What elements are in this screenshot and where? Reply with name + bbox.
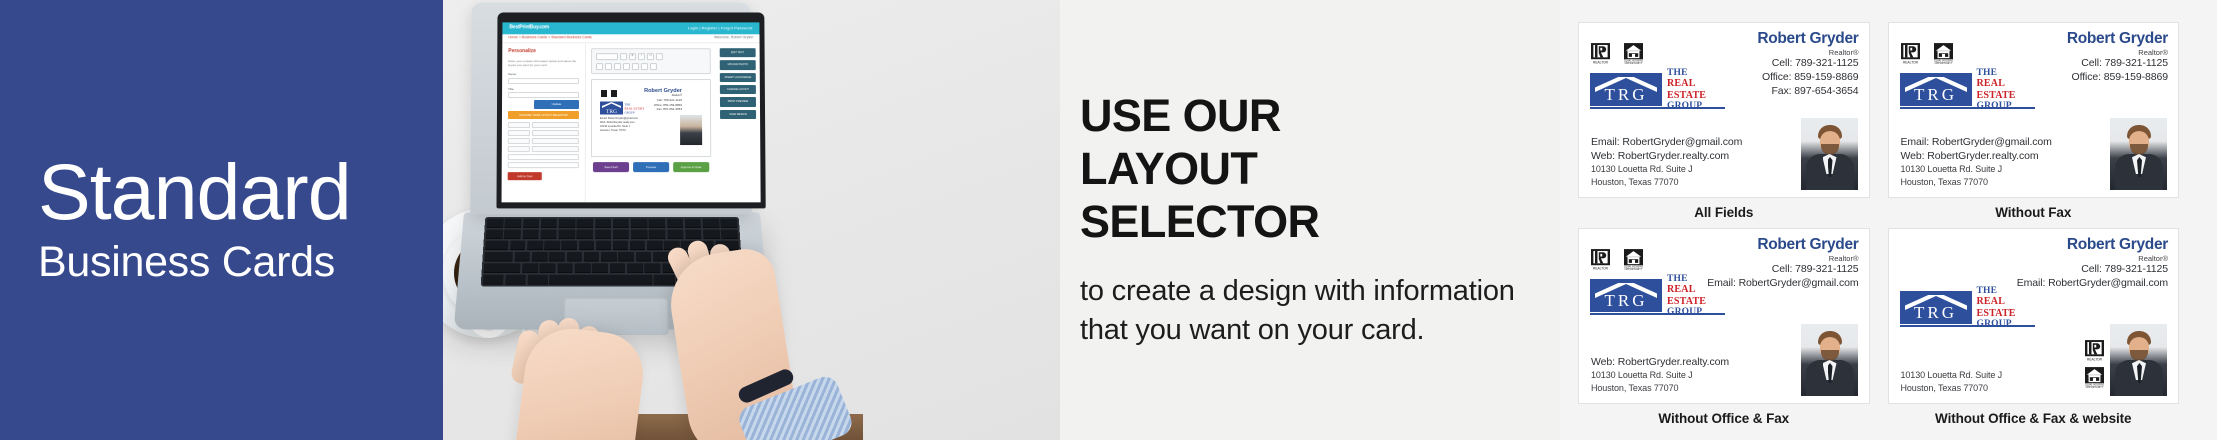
screen-approve-button[interactable]: Approve & Order [673,162,709,172]
screen-select-4[interactable] [508,146,530,152]
card3-trg-box: TRG [1590,279,1662,312]
screen-select-1[interactable] [508,122,530,128]
card2-contact: Email: RobertGryder@gmail.com Web: Rober… [1901,135,2052,189]
card2-trg-words: THE REAL ESTATE GROUP [1972,73,2035,106]
italic-icon[interactable]: I [638,53,645,60]
mini-badges [601,90,617,97]
mini-trg-logo: TRG THE REAL ESTATE GROUP [600,101,644,115]
svg-text:REALTOR: REALTOR [1593,61,1609,65]
svg-text:OPPORTUNITY: OPPORTUNITY [1625,268,1643,271]
card1-trg-rule [1590,107,1725,109]
business-card-without-fax[interactable]: REALTOR EQUAL HOUSING OPPORTUNITY Robert… [1888,22,2180,198]
card4-trg-group: GROUP [1977,319,2035,330]
screen-nav-links[interactable]: Login | Register | Forgot Password [688,25,753,31]
screen-input-1[interactable] [532,122,579,128]
align-right-icon[interactable] [614,63,621,70]
svg-text:OPPORTUNITY: OPPORTUNITY [1934,62,1952,65]
card2-trg-letters: TRG [1914,86,1957,106]
card2-trg-the: THE [1977,68,2035,79]
card1-agent-photo [1801,118,1858,190]
screen-field-row-1 [508,122,579,128]
realtor-r-icon: REALTOR [1591,249,1610,271]
redo-icon[interactable] [650,63,657,70]
card2-office: Office: 859-159-8869 [2067,71,2168,85]
card1-address1: 10130 Louetta Rd. Suite J [1591,163,1742,176]
card3-contact: Web: RobertGryder.realty.com 10130 Louet… [1591,355,1729,395]
card2-address1: 10130 Louetta Rd. Suite J [1901,163,2052,176]
screen-input-title[interactable] [508,92,579,98]
screen-site-logo: BestPrintBuy.com [509,25,549,32]
card4-trg-box: TRG [1900,291,1972,324]
equal-housing-opportunity-icon: EQUAL HOUSING OPPORTUNITY [1934,43,1953,65]
card3-trg-the: THE [1667,274,1725,285]
card4-email: Email: RobertGryder@gmail.com [2017,277,2168,291]
card2-address2: Houston, Texas 77070 [1901,176,2052,189]
svg-text:REALTOR: REALTOR [1593,267,1609,271]
toolbar-row-1: B I U [596,53,706,60]
card3-agent-photo [1801,324,1858,396]
screen-layout-selector-button[interactable]: CHOOSE YOUR LAYOUT SELECTOR [508,111,579,119]
screen-update-button[interactable]: Update [534,100,579,108]
card3-address1: 10130 Louetta Rd. Suite J [1591,369,1729,382]
screen-form-panel: Personalize Enter your contact informati… [502,43,587,202]
business-card-without-office-fax[interactable]: REALTOR EQUAL HOUSING OPPORTUNITY Robert… [1578,228,1870,404]
laptop-photo-scene: BestPrintBuy.com Login | Register | Forg… [443,0,1060,440]
card1-email: Email: RobertGryder@gmail.com [1591,135,1742,149]
card1-trg-re: REAL ESTATE [1667,78,1725,100]
svg-text:TRG: TRG [606,109,617,115]
card-cell-without-office-fax-website[interactable]: Robert Gryder Realtor® Cell: 789-321-112… [1888,228,2180,426]
align-left-icon[interactable] [596,63,603,70]
screen-preview-button[interactable]: Preview [633,162,669,172]
mini-card-address2: Houston, Texas 77070 [600,129,638,133]
screen-footer-buttons: Save Draft Preview Approve & Order [591,162,711,172]
screen-body: Personalize Enter your contact informati… [502,43,761,202]
business-card-without-office-fax-website[interactable]: Robert Gryder Realtor® Cell: 789-321-112… [1888,228,2180,404]
card4-role: Realtor® [2017,254,2168,263]
screen-input-name[interactable] [508,78,579,84]
underline-icon[interactable]: U [647,53,654,60]
mini-card-photo [680,115,702,145]
screen-side-save-design[interactable]: SAVE DESIGN [720,110,756,119]
screen-field-row-2 [508,130,579,136]
standard-business-cards-banner: Standard Business Cards BestPrintBuy.com… [0,0,2217,440]
card2-email: Email: RobertGryder@gmail.com [1901,135,2052,149]
card1-badges: REALTOR EQUAL HOUSING OPPORTUNITY [1591,43,1643,65]
card3-web: Web: RobertGryder.realty.com [1591,355,1729,369]
card4-contact: 10130 Louetta Rd. Suite J Houston, Texas… [1901,369,2003,395]
screen-field-row-3 [508,138,579,144]
screen-side-change-layout[interactable]: CHANGE LAYOUT [720,85,756,94]
card1-role: Realtor® [1757,48,1858,57]
headline-body: to create a design with information that… [1080,272,1560,349]
card1-caption: All Fields [1578,198,1870,220]
trg-logo-icon: TRG THE REAL ESTATE GROUP [600,101,644,115]
screen-account: Welcome, Robert Gryder [714,36,754,41]
keyboard-row-numbers [486,230,738,240]
realtor-r-icon: REALTOR [1901,43,1920,65]
toolbar-row-2 [596,63,706,70]
card3-trg-group: GROUP [1667,307,1725,318]
card4-trg-letters: TRG [1914,304,1957,324]
card1-office: Office: 859-159-8869 [1757,71,1858,85]
screen-input-3[interactable] [532,138,579,144]
card4-badges: REALTOR EQUAL HOUSING OPPORTUNITY [2085,340,2104,389]
headline-line-3: SELECTOR [1080,196,1319,247]
screen-card-preview[interactable]: Robert Gryder Realtor® Cell: 789-321-112… [591,79,711,157]
card2-right-block: Robert Gryder Realtor® Cell: 789-321-112… [2067,30,2168,85]
card2-caption: Without Fax [1888,198,2180,220]
realtor-r-icon: REALTOR [2085,340,2104,362]
screen-save-draft-button[interactable]: Save Draft [593,162,629,172]
card2-trg-re: REAL ESTATE [1977,78,2035,100]
laptop-screen: BestPrintBuy.com Login | Register | Forg… [502,22,761,202]
equal-housing-opportunity-icon: EQUAL HOUSING OPPORTUNITY [1624,43,1643,65]
svg-text:REALTOR: REALTOR [2087,358,2103,362]
panel-title-sub: Business Cards [38,238,335,287]
font-family-select[interactable] [596,53,618,60]
screen-input-5[interactable] [508,154,579,160]
screen-field-row-4 [508,146,579,152]
card1-name: Robert Gryder [1757,30,1858,47]
headline-title: USE OUR LAYOUT SELECTOR [1080,90,1560,248]
screen-side-upload-photo[interactable]: UPLOAD PHOTO [720,60,756,69]
svg-text:THE: THE [624,102,630,106]
card2-trg-group: GROUP [1977,101,2035,112]
screen-breadcrumb-row: Home > Business Cards > Standard Busines… [502,34,759,43]
text-color-icon[interactable] [656,53,663,60]
screen-panel-heading: Personalize [508,48,579,55]
card-cell-without-fax[interactable]: REALTOR EQUAL HOUSING OPPORTUNITY Robert… [1888,22,2180,220]
card3-address2: Houston, Texas 77070 [1591,382,1729,395]
equal-housing-opportunity-icon: EQUAL HOUSING OPPORTUNITY [1624,249,1643,271]
card3-trg-words: THE REAL ESTATE GROUP [1662,279,1725,312]
card2-badges: REALTOR EQUAL HOUSING OPPORTUNITY [1901,43,1953,65]
card2-name: Robert Gryder [2067,30,2168,47]
realtor-r-icon: REALTOR [1591,43,1610,65]
laptop-bezel: BestPrintBuy.com Login | Register | Forg… [496,12,765,208]
card2-web: Web: RobertGryder.realty.com [1901,149,2052,163]
bold-icon[interactable]: B [629,53,636,60]
headline-line-2: LAYOUT [1080,143,1257,194]
card4-trg-logo: TRG THE REAL ESTATE GROUP [1900,291,2035,324]
card1-web: Web: RobertGryder.realty.com [1591,149,1742,163]
card4-trg-rule [1900,325,2035,327]
svg-text:REAL ESTATE: REAL ESTATE [624,106,644,110]
screen-panel-text: Enter your contact information below and… [508,59,579,69]
screen-input-6[interactable] [508,162,579,168]
card2-trg-rule [1900,107,2035,109]
card4-trg-re: REAL ESTATE [1977,296,2035,318]
card1-address2: Houston, Texas 77070 [1591,176,1742,189]
keyboard-row-function [487,219,738,228]
card3-trg-rule [1590,313,1725,315]
panel-title-main: Standard [38,153,351,230]
equal-housing-opportunity-icon [611,90,617,97]
card4-trg-words: THE REAL ESTATE GROUP [1972,291,2035,324]
card3-email: Email: RobertGryder@gmail.com [1707,277,1858,291]
screen-preview-panel: B I U [586,43,717,202]
card3-caption: Without Office & Fax [1578,404,1870,426]
card4-right-block: Robert Gryder Realtor® Cell: 789-321-112… [2017,236,2168,291]
card3-right-block: Robert Gryder Realtor® Cell: 789-321-112… [1707,236,1858,291]
undo-icon[interactable] [641,63,648,70]
card1-fax: Fax: 897-654-3654 [1757,85,1858,99]
equal-housing-opportunity-icon: EQUAL HOUSING OPPORTUNITY [2085,367,2104,389]
mini-card-fax: Fax: 897-654-3654 [657,107,682,111]
layout-variant-grid: REALTOR EQUAL HOUSING OPPORTUNITY Robert… [1560,0,2217,440]
svg-text:OPPORTUNITY: OPPORTUNITY [1625,62,1643,65]
mini-card-contact: Email: RobertGryder@gmail.com Web: Rober… [600,117,638,133]
align-center-icon[interactable] [605,63,612,70]
card3-role: Realtor® [1707,254,1858,263]
screen-input-4[interactable] [532,146,579,152]
card1-contact: Email: RobertGryder@gmail.com Web: Rober… [1591,135,1742,189]
screen-side-insert-logo[interactable]: INSERT LOGO/IMAGE [720,73,756,82]
card2-role: Realtor® [2067,48,2168,57]
card4-address2: Houston, Texas 77070 [1901,382,2003,395]
screen-side-print-preview[interactable]: PRINT PREVIEW [720,97,756,106]
card2-trg-box: TRG [1900,73,1972,106]
headline-block: USE OUR LAYOUT SELECTOR to create a desi… [1060,0,1560,440]
left-title-panel: Standard Business Cards [0,0,443,440]
laptop-lid: BestPrintBuy.com Login | Register | Forg… [470,3,751,215]
business-card-all-fields[interactable]: REALTOR EQUAL HOUSING OPPORTUNITY Robert… [1578,22,1870,198]
card3-cell: Cell: 789-321-1125 [1707,263,1858,277]
screen-select-2[interactable] [508,130,530,136]
svg-text:REALTOR: REALTOR [1903,61,1919,65]
card4-cell: Cell: 789-321-1125 [2017,263,2168,277]
svg-text:GROUP: GROUP [625,110,635,114]
card3-name: Robert Gryder [1707,236,1858,253]
card1-trg-group: GROUP [1667,101,1725,112]
card1-right-block: Robert Gryder Realtor® Cell: 789-321-112… [1757,30,1858,99]
card3-trg-re: REAL ESTATE [1667,284,1725,306]
card2-cell: Cell: 789-321-1125 [2067,57,2168,71]
realtor-r-icon [601,90,607,97]
headline-line-1: USE OUR [1080,90,1281,141]
card1-cell: Cell: 789-321-1125 [1757,57,1858,71]
card4-trg-the: THE [1977,286,2035,297]
screen-input-2[interactable] [532,130,579,136]
screen-select-3[interactable] [508,138,530,144]
card3-trg-logo: TRG THE REAL ESTATE GROUP [1590,279,1725,312]
card2-trg-logo: TRG THE REAL ESTATE GROUP [1900,73,2035,106]
card3-badges: REALTOR EQUAL HOUSING OPPORTUNITY [1591,249,1643,271]
mini-card: Robert Gryder Realtor® Cell: 789-321-112… [598,85,704,151]
screen-add-to-cart-button[interactable]: Add to Cart [508,172,542,181]
crop-icon[interactable] [632,63,639,70]
card1-trg-logo: TRG THE REAL ESTATE GROUP [1590,73,1725,106]
card4-agent-photo [2110,324,2167,396]
font-size-select[interactable] [620,53,627,60]
card1-trg-letters: TRG [1605,86,1648,106]
card4-caption: Without Office & Fax & website [1888,404,2180,426]
screen-breadcrumb[interactable]: Home > Business Cards > Standard Busines… [508,36,591,41]
svg-text:OPPORTUNITY: OPPORTUNITY [2086,386,2104,389]
card1-trg-words: THE REAL ESTATE GROUP [1662,73,1725,106]
screen-editor-toolbar: B I U [591,48,711,74]
card-cell-all-fields[interactable]: REALTOR EQUAL HOUSING OPPORTUNITY Robert… [1578,22,1870,220]
card1-trg-box: TRG [1590,73,1662,106]
card1-trg-the: THE [1667,68,1725,79]
screen-field-label-name: Name [508,72,579,76]
screen-field-label-title: Title [508,87,579,91]
card4-address1: 10130 Louetta Rd. Suite J [1901,369,2003,382]
screen-side-buttons: EDIT TEXT UPLOAD PHOTO INSERT LOGO/IMAGE… [716,43,761,202]
screen-side-edit-text[interactable]: EDIT TEXT [720,48,756,57]
image-icon[interactable] [623,63,630,70]
card2-agent-photo [2110,118,2167,190]
card-cell-without-office-fax[interactable]: REALTOR EQUAL HOUSING OPPORTUNITY Robert… [1578,228,1870,426]
card4-name: Robert Gryder [2017,236,2168,253]
card3-trg-letters: TRG [1605,292,1648,312]
screen-topbar: BestPrintBuy.com Login | Register | Forg… [502,22,759,34]
